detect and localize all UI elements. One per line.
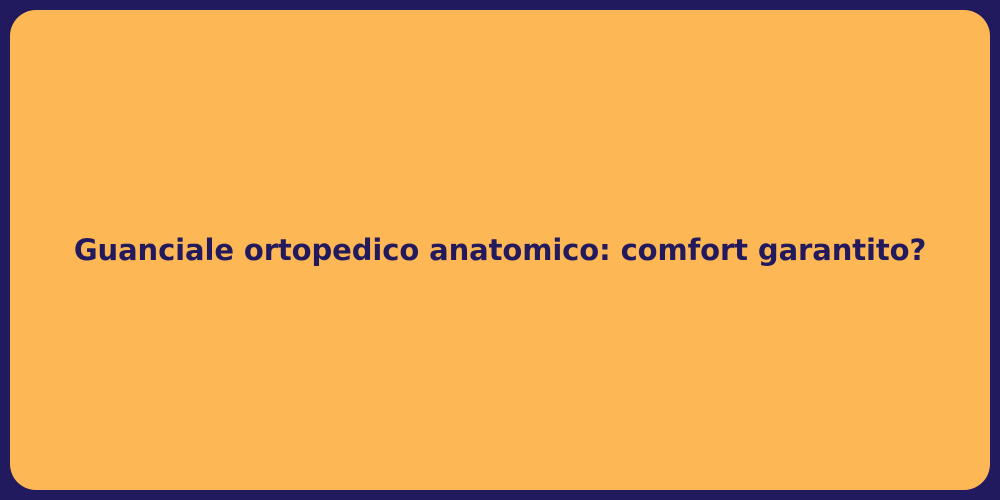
content-card: Guanciale ortopedico anatomico: comfort … bbox=[10, 10, 990, 490]
page-title: Guanciale ortopedico anatomico: comfort … bbox=[34, 232, 966, 268]
page-frame: Guanciale ortopedico anatomico: comfort … bbox=[0, 0, 1000, 500]
